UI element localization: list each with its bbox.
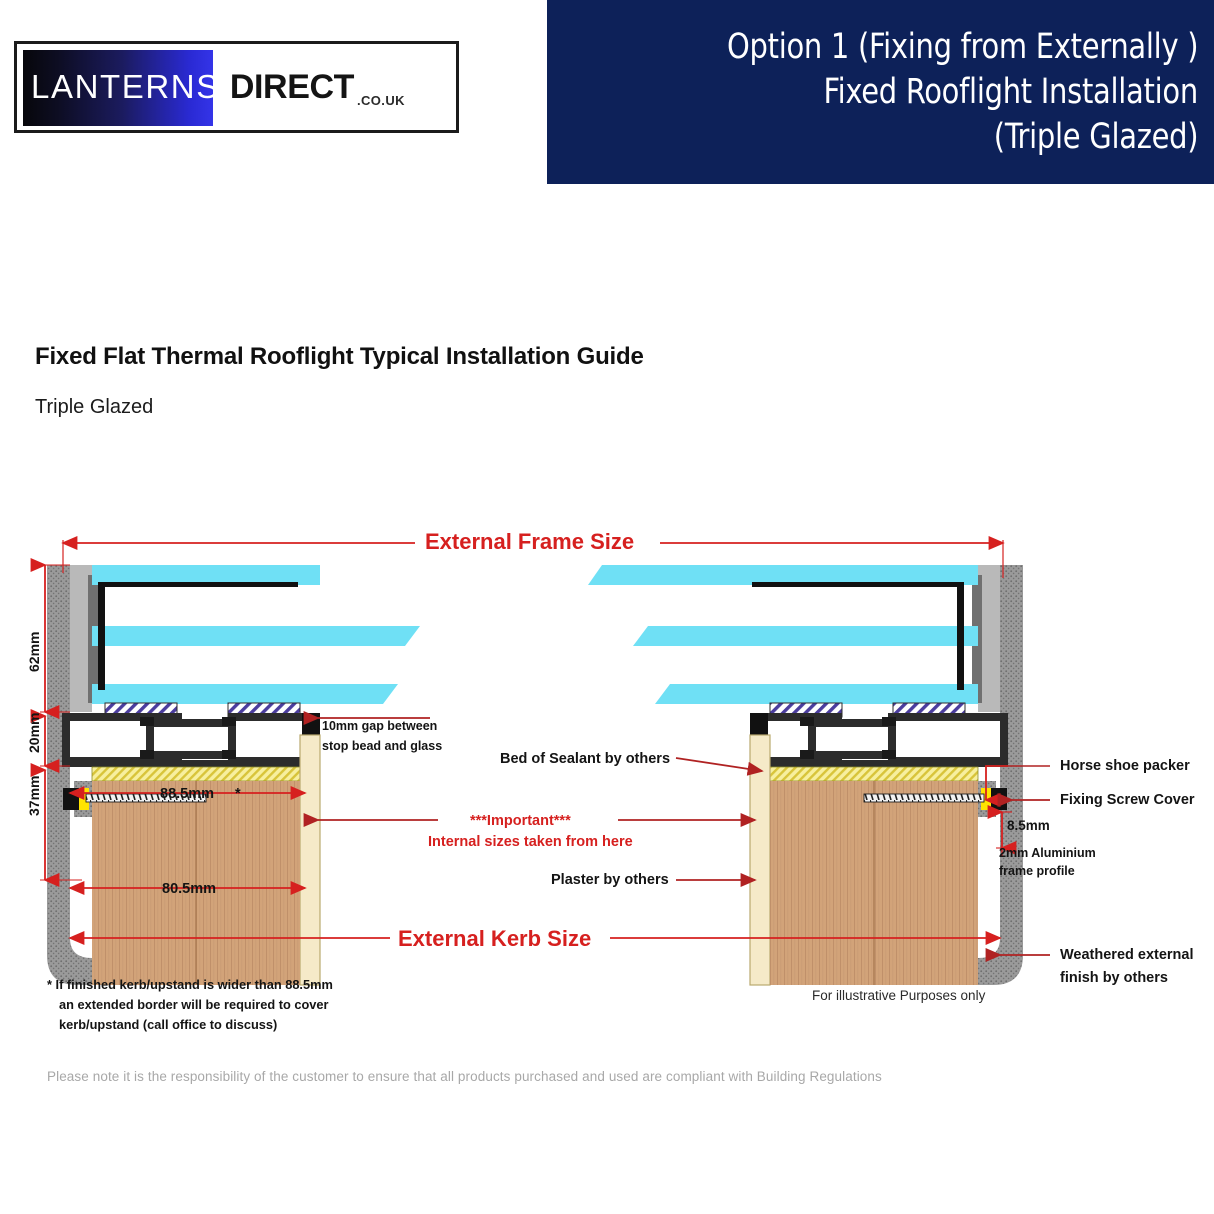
dimension-62mm: 62mm	[26, 632, 42, 672]
plaster-left	[300, 735, 320, 985]
callout-bed-of-sealant: Bed of Sealant by others	[500, 750, 670, 769]
callout-important-line1: ***Important***	[470, 812, 571, 831]
glass-pane-middle-left	[92, 626, 420, 646]
spacer-bar-vertical-right	[957, 582, 964, 690]
callout-stop-bead-gap-line2: stop bead and glass	[322, 738, 442, 754]
dimension-asterisk: *	[235, 786, 241, 802]
right-section	[588, 565, 1023, 985]
dimension-88-5mm: 88.5mm	[160, 786, 214, 802]
callout-fixing-screw-cover: Fixing Screw Cover	[1060, 791, 1195, 810]
installation-guide-page: LANTERNS DIRECT .CO.UK Option 1 (Fixing …	[0, 0, 1214, 1214]
logo-lanterns-text: LANTERNS	[17, 68, 220, 106]
bed-of-sealant-left	[92, 767, 316, 781]
glass-pane-inner-right	[655, 684, 978, 704]
logo-tld-text: .CO.UK	[357, 93, 405, 130]
glass-pane-inner-left	[92, 684, 398, 704]
callout-weathered-finish-line1: Weathered external	[1060, 946, 1194, 965]
dimension-8-5mm: 8.5mm	[1007, 818, 1050, 833]
callout-important-line2: Internal sizes taken from here	[428, 833, 633, 852]
footnote-line-2: an extended border will be required to c…	[47, 995, 333, 1015]
spacer-bar-top-left	[98, 582, 298, 587]
glass-pane-middle-right	[633, 626, 978, 646]
dimension-37mm: 37mm	[26, 776, 42, 816]
dimension-80-5mm: 80.5mm	[162, 881, 216, 897]
stop-bead-right	[750, 713, 768, 735]
spacer-bar-top-right	[752, 582, 964, 587]
footnote-line-1: * If finished kerb/upstand is wider than…	[47, 975, 333, 995]
logo-direct-text: DIRECT	[230, 68, 354, 107]
callout-stop-bead-gap-line1: 10mm gap between	[322, 718, 437, 734]
stop-bead-left	[302, 713, 320, 735]
fixing-screw-cover-right	[991, 788, 1007, 810]
spacer-bar-vertical-left	[98, 582, 105, 690]
callout-horse-shoe-packer: Horse shoe packer	[1060, 757, 1190, 776]
callout-weathered-finish-line2: finish by others	[1060, 969, 1168, 988]
callout-aluminium-profile-line1: 2mm Aluminium	[999, 845, 1096, 861]
leader-bed-of-sealant	[676, 758, 762, 771]
fixing-screw-right	[864, 794, 984, 802]
dimension-20mm: 20mm	[26, 713, 42, 753]
building-regulations-disclaimer: Please note it is the responsibility of …	[47, 1069, 882, 1084]
bed-of-sealant-right	[754, 767, 978, 781]
illustrative-purposes-note: For illustrative Purposes only	[812, 988, 985, 1003]
callout-aluminium-profile-line2: frame profile	[999, 863, 1075, 879]
left-section	[47, 565, 420, 985]
kerb-footnote: * If finished kerb/upstand is wider than…	[47, 975, 333, 1034]
footnote-line-3: kerb/upstand (call office to discuss)	[47, 1015, 333, 1035]
fixing-screw-cover-left	[63, 788, 79, 810]
plaster-right	[750, 735, 770, 985]
external-kerb-size-label: External Kerb Size	[398, 925, 591, 953]
external-frame-size-label: External Frame Size	[425, 528, 634, 556]
callout-plaster: Plaster by others	[551, 871, 669, 890]
